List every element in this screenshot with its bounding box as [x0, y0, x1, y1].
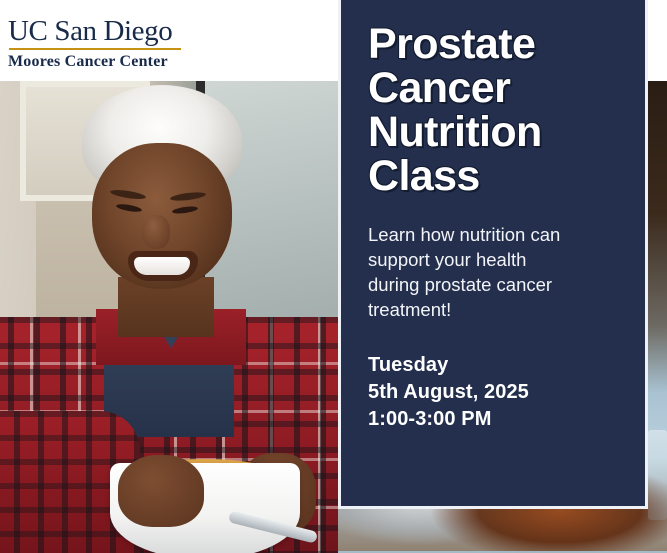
- description-line-3: during prostate cancer: [368, 272, 629, 297]
- title-line-1: Prostate: [368, 22, 629, 66]
- event-time: 1:00-3:00 PM: [368, 406, 629, 433]
- description-text: Learn how nutrition can support your hea…: [368, 222, 629, 322]
- page-title: Prostate Cancer Nutrition Class: [368, 22, 629, 198]
- description-line-2: support your health: [368, 247, 629, 272]
- teeth: [134, 257, 190, 275]
- description-line-4: treatment!: [368, 297, 629, 322]
- title-line-2: Cancer: [368, 66, 629, 110]
- logo-bar: UC San Diego Moores Cancer Center: [0, 0, 338, 81]
- title-line-3: Nutrition: [368, 110, 629, 154]
- title-line-4: Class: [368, 154, 629, 198]
- event-date: 5th August, 2025: [368, 379, 629, 406]
- info-panel-content: Prostate Cancer Nutrition Class Learn ho…: [368, 22, 629, 433]
- event-datetime: Tuesday 5th August, 2025 1:00-3:00 PM: [368, 352, 629, 433]
- logo-gold-rule: [9, 48, 181, 50]
- poster: UC San Diego Moores Cancer Center Prosta…: [0, 0, 667, 553]
- moores-cancer-center-label: Moores Cancer Center: [8, 52, 168, 72]
- drinking-glass: [648, 430, 667, 520]
- uc-san-diego-wordmark: UC San Diego: [8, 16, 172, 46]
- left-hand: [118, 455, 204, 527]
- info-panel: Prostate Cancer Nutrition Class Learn ho…: [338, 0, 648, 509]
- hero-photo-man-with-salad: [0, 81, 338, 553]
- description-line-1: Learn how nutrition can: [368, 222, 629, 247]
- nose: [142, 215, 170, 249]
- event-day: Tuesday: [368, 352, 629, 379]
